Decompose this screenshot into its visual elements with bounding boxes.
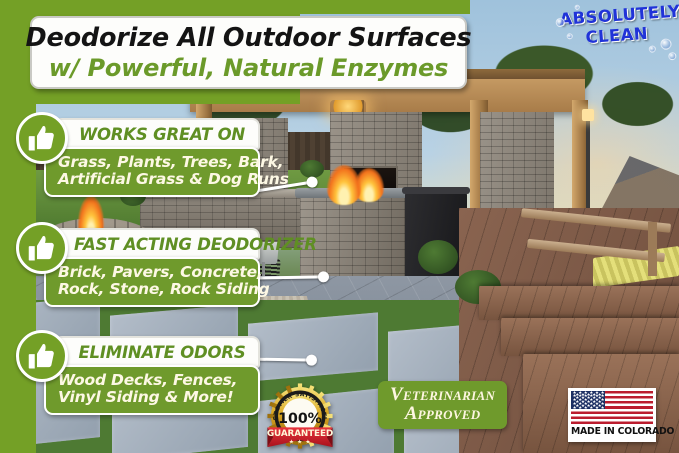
shrub [418,240,458,274]
callout-body: Brick, Pavers, Concrete, Rock, Stone, Ro… [44,257,260,307]
thumbs-up-icon [27,341,57,371]
callout-heading-text: ELIMINATE ODORS [74,343,250,362]
headline-line-2: w/ Powerful, Natural Enzymes [49,54,448,82]
headline-line-1: Deodorize All Outdoor Surfaces [26,23,472,53]
vet-badge-line-1: Veterinarian [390,385,495,404]
satisfaction-guarantee-seal: CUSTOMER SATISFACTION 100% GUARANTEED ★ … [264,382,336,450]
island-flame [327,165,361,205]
usa-flag-icon: ★★★★★★★★★★★★★★★★★★★★★★★★★★★★★★★★★★★★★★★★… [571,391,653,424]
headline-banner: Deodorize All Outdoor Surfaces w/ Powerf… [30,16,467,89]
feature-callout-eliminate-odors: ELIMINATE ODORS Wood Decks, Fences, Viny… [22,336,260,415]
callout-heading: WORKS GREAT ON [54,118,260,150]
deck-step [501,318,679,356]
product-infographic: Deodorize All Outdoor Surfaces w/ Powerf… [0,0,679,453]
callout-heading-text: FAST ACTING DEODORIZER [74,235,250,254]
callout-body-line-2: Vinyl Siding & More! [58,389,248,406]
callout-body-line-1: Grass, Plants, Trees, Bark, [58,154,248,171]
callout-body-line-1: Wood Decks, Fences, [58,372,248,389]
callout-body: Grass, Plants, Trees, Bark, Artificial G… [44,147,260,197]
callout-body-line-2: Artificial Grass & Dog Runs [58,171,248,188]
made-in-colorado-label: MADE IN COLORADO [571,426,653,437]
thumbs-up-badge [16,222,68,274]
feature-callout-works-great-on: WORKS GREAT ON Grass, Plants, Trees, Bar… [22,118,260,197]
seal-stars: ★ ★ ★ [289,439,311,446]
veterinarian-approved-badge: Veterinarian Approved [378,381,507,429]
thumbs-up-icon [27,123,57,153]
seal-banner-text: GUARANTEED [267,429,333,439]
callout-body-line-1: Brick, Pavers, Concrete, [58,264,248,281]
flag-canton: ★★★★★★★★★★★★★★★★★★★★★★★★★★★★★★★★★★★★★★★★… [571,391,605,409]
callout-heading: FAST ACTING DEODORIZER [54,228,260,260]
thumbs-up-badge [16,330,68,382]
callout-heading-text: WORKS GREAT ON [74,125,250,144]
vet-badge-line-2: Approved [390,404,495,423]
seal-percent: 100% [278,411,322,427]
guarantee-seal-graphic: CUSTOMER SATISFACTION 100% GUARANTEED ★ … [264,382,336,450]
deck-rail-post [648,222,657,276]
callout-heading: ELIMINATE ODORS [54,336,260,368]
callout-body: Wood Decks, Fences, Vinyl Siding & More! [44,365,260,415]
brand-logo: ABSOLUTELY CLEAN [559,4,675,74]
thumbs-up-badge [16,112,68,164]
made-in-colorado-badge: ★★★★★★★★★★★★★★★★★★★★★★★★★★★★★★★★★★★★★★★★… [568,388,656,442]
feature-callout-fast-acting-deodorizer: FAST ACTING DEODORIZER Brick, Pavers, Co… [22,228,260,307]
shrub [300,160,324,178]
bubble-icon [649,45,656,52]
lamp-post [586,118,590,210]
thumbs-up-icon [27,233,57,263]
bubble-icon [660,38,672,50]
callout-body-line-2: Rock, Stone, Rock Siding [58,281,248,298]
deck-step [479,286,679,320]
